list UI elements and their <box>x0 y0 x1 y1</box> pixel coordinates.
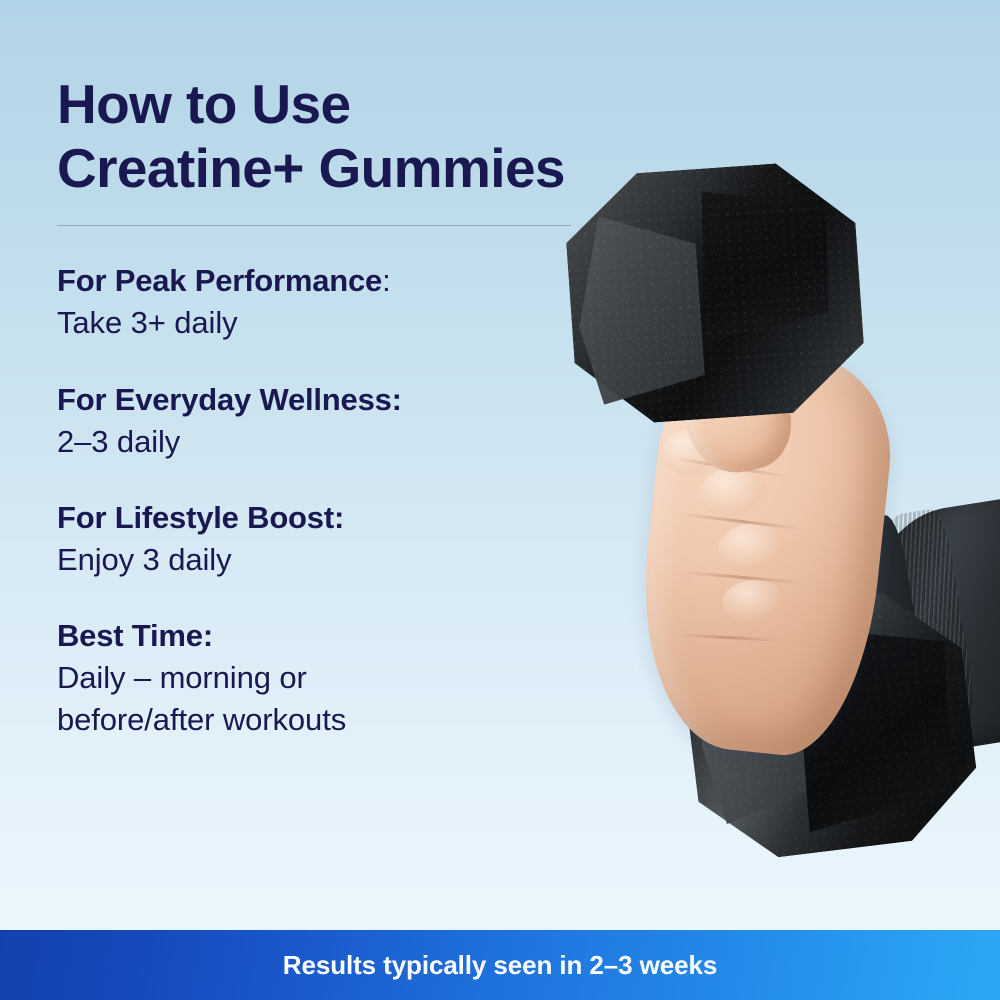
dumbbell-lower-texture <box>676 584 984 866</box>
usage-heading: Best Time: <box>57 615 597 657</box>
usage-body: Daily – morning or before/after workouts <box>57 657 597 741</box>
dumbbell-handle-lower <box>758 545 826 640</box>
usage-heading-label: For Peak Performance <box>57 263 382 298</box>
finger-crease <box>676 633 780 641</box>
usage-heading: For Peak Performance: <box>57 260 597 302</box>
hand-shape <box>628 341 901 763</box>
usage-section-everyday-wellness: For Everyday Wellness: 2–3 daily <box>57 379 597 463</box>
sleeve-shape <box>851 490 1000 760</box>
finger-crease <box>680 512 803 530</box>
knuckle-highlight <box>700 468 768 518</box>
finger-crease <box>684 571 802 584</box>
knuckle-highlight <box>662 430 720 476</box>
usage-heading-colon: : <box>203 618 213 653</box>
title-divider <box>57 225 571 227</box>
usage-heading: For Lifestyle Boost: <box>57 497 597 539</box>
dumbbell-upper-head <box>562 158 869 428</box>
page-title: How to Use Creatine+ Gummies <box>57 72 597 201</box>
dumbbell-upper-front-facet <box>685 183 835 342</box>
dumbbell-lower-left-facet <box>689 630 821 826</box>
usage-body: 2–3 daily <box>57 421 597 463</box>
usage-body: Take 3+ daily <box>57 302 597 344</box>
dumbbell-lower-head <box>676 584 984 866</box>
content-column: How to Use Creatine+ Gummies For Peak Pe… <box>57 0 597 742</box>
thumb-shape <box>671 334 801 482</box>
dumbbell-handle-knurling <box>763 547 821 604</box>
usage-body: Enjoy 3 daily <box>57 539 597 581</box>
usage-heading-colon: : <box>334 500 344 535</box>
sleeve-ribbing <box>863 507 979 742</box>
usage-heading-colon: : <box>382 263 390 298</box>
usage-section-best-time: Best Time: Daily – morning or before/aft… <box>57 615 597 741</box>
finger-crease <box>672 457 789 478</box>
usage-heading: For Everyday Wellness: <box>57 379 597 421</box>
promo-card: How to Use Creatine+ Gummies For Peak Pe… <box>0 0 1000 1000</box>
usage-heading-label: For Lifestyle Boost <box>57 500 334 535</box>
sleeve-cuff <box>847 513 929 717</box>
results-banner: Results typically seen in 2–3 weeks <box>0 930 1000 1000</box>
thumbnail <box>699 350 753 397</box>
dumbbell-lower-front-facet <box>778 609 966 833</box>
usage-section-lifestyle-boost: For Lifestyle Boost: Enjoy 3 daily <box>57 497 597 581</box>
usage-heading-label: For Everyday Wellness <box>57 382 392 417</box>
usage-heading-colon: : <box>392 382 402 417</box>
results-banner-text: Results typically seen in 2–3 weeks <box>283 950 717 981</box>
knuckle-highlight <box>722 580 788 626</box>
knuckle-highlight <box>718 524 788 574</box>
usage-section-peak-performance: For Peak Performance: Take 3+ daily <box>57 260 597 344</box>
dumbbell-upper-texture <box>562 158 869 428</box>
dumbbell-handle-upper <box>698 355 752 405</box>
usage-heading-label: Best Time <box>57 618 203 653</box>
